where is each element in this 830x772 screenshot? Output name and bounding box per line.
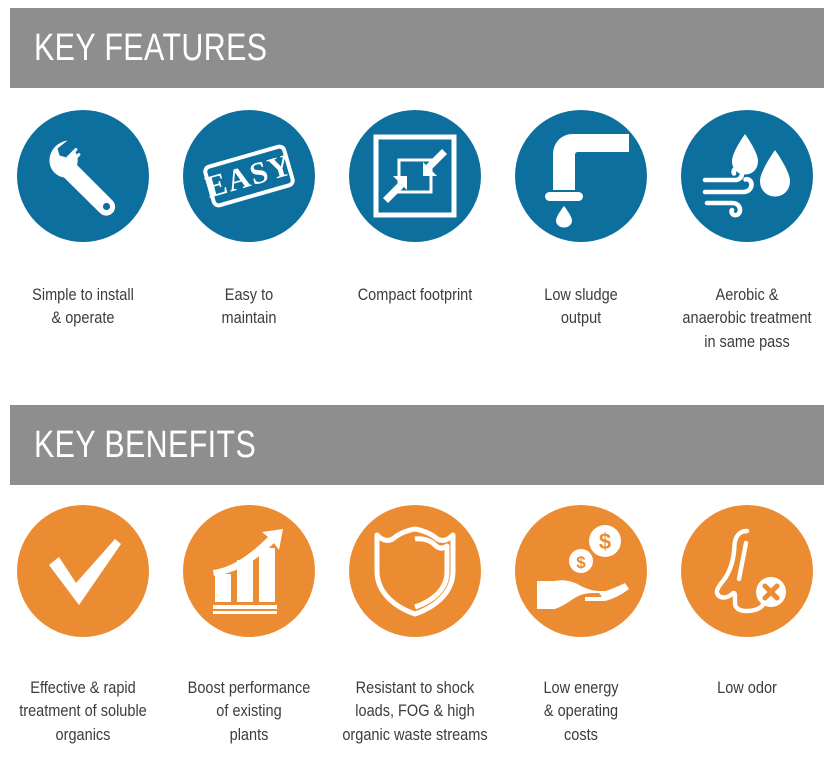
benefit-caption: Low odor [673,677,821,700]
benefits-row: Effective & rapid treatment of soluble o… [0,505,830,747]
feature-icon-circle [515,110,647,242]
feature-caption: Simple to install & operate [9,284,157,331]
benefit-icon-circle: $ $ [515,505,647,637]
feature-item-low-sludge-output[interactable]: Low sludge output [498,110,664,331]
benefit-icon-circle [183,505,315,637]
benefit-item-resistant-to-shock[interactable]: Resistant to shock loads, FOG & high org… [332,505,498,747]
benefit-caption: Boost performance of existing plants [175,677,323,747]
feature-item-compact-footprint[interactable]: Compact footprint [332,110,498,307]
faucet-drip-icon [533,128,629,224]
benefit-item-boost-performance[interactable]: Boost performance of existing plants [166,505,332,747]
growth-chart-icon [205,527,293,615]
compact-footprint-icon [369,130,461,222]
benefit-icon-circle [17,505,149,637]
feature-caption: Easy to maintain [175,284,323,331]
feature-item-aerobic-anaerobic[interactable]: Aerobic & anaerobic treatment in same pa… [664,110,830,354]
air-and-water-icon [699,128,795,224]
feature-caption: Low sludge output [507,284,655,331]
benefit-caption: Resistant to shock loads, FOG & high org… [341,677,489,747]
feature-icon-circle [17,110,149,242]
feature-item-simple-to-install[interactable]: Simple to install & operate [0,110,166,331]
section-title: KEY FEATURES [10,27,267,70]
section-header-key-benefits: KEY BENEFITS [10,405,824,485]
wrench-icon [37,130,129,222]
infographic-page: KEY FEATURES Simple to install & operate [0,0,830,772]
benefit-item-effective-rapid-treatment[interactable]: Effective & rapid treatment of soluble o… [0,505,166,747]
shield-icon [369,525,461,617]
benefit-caption: Low energy & operating costs [507,677,655,747]
benefit-icon-circle [349,505,481,637]
hand-with-coins-icon: $ $ [533,523,629,619]
svg-text:$: $ [599,529,611,554]
benefit-item-low-energy-costs[interactable]: $ $ Low energy & operating costs [498,505,664,747]
feature-caption: Aerobic & anaerobic treatment in same pa… [673,284,821,354]
feature-icon-circle [349,110,481,242]
benefit-caption: Effective & rapid treatment of soluble o… [9,677,157,747]
feature-icon-circle: EASY [183,110,315,242]
benefit-item-low-odor[interactable]: Low odor [664,505,830,700]
benefit-icon-circle [681,505,813,637]
feature-caption: Compact footprint [341,284,489,307]
feature-item-easy-to-maintain[interactable]: EASY Easy to maintain [166,110,332,331]
section-header-key-features: KEY FEATURES [10,8,824,88]
svg-text:$: $ [576,553,586,572]
feature-icon-circle [681,110,813,242]
features-row: Simple to install & operate EASY Easy to… [0,110,830,354]
no-odor-nose-icon [701,525,793,617]
section-title: KEY BENEFITS [10,424,256,467]
easy-stamp-icon: EASY [195,122,303,230]
checkmark-icon [39,527,127,615]
